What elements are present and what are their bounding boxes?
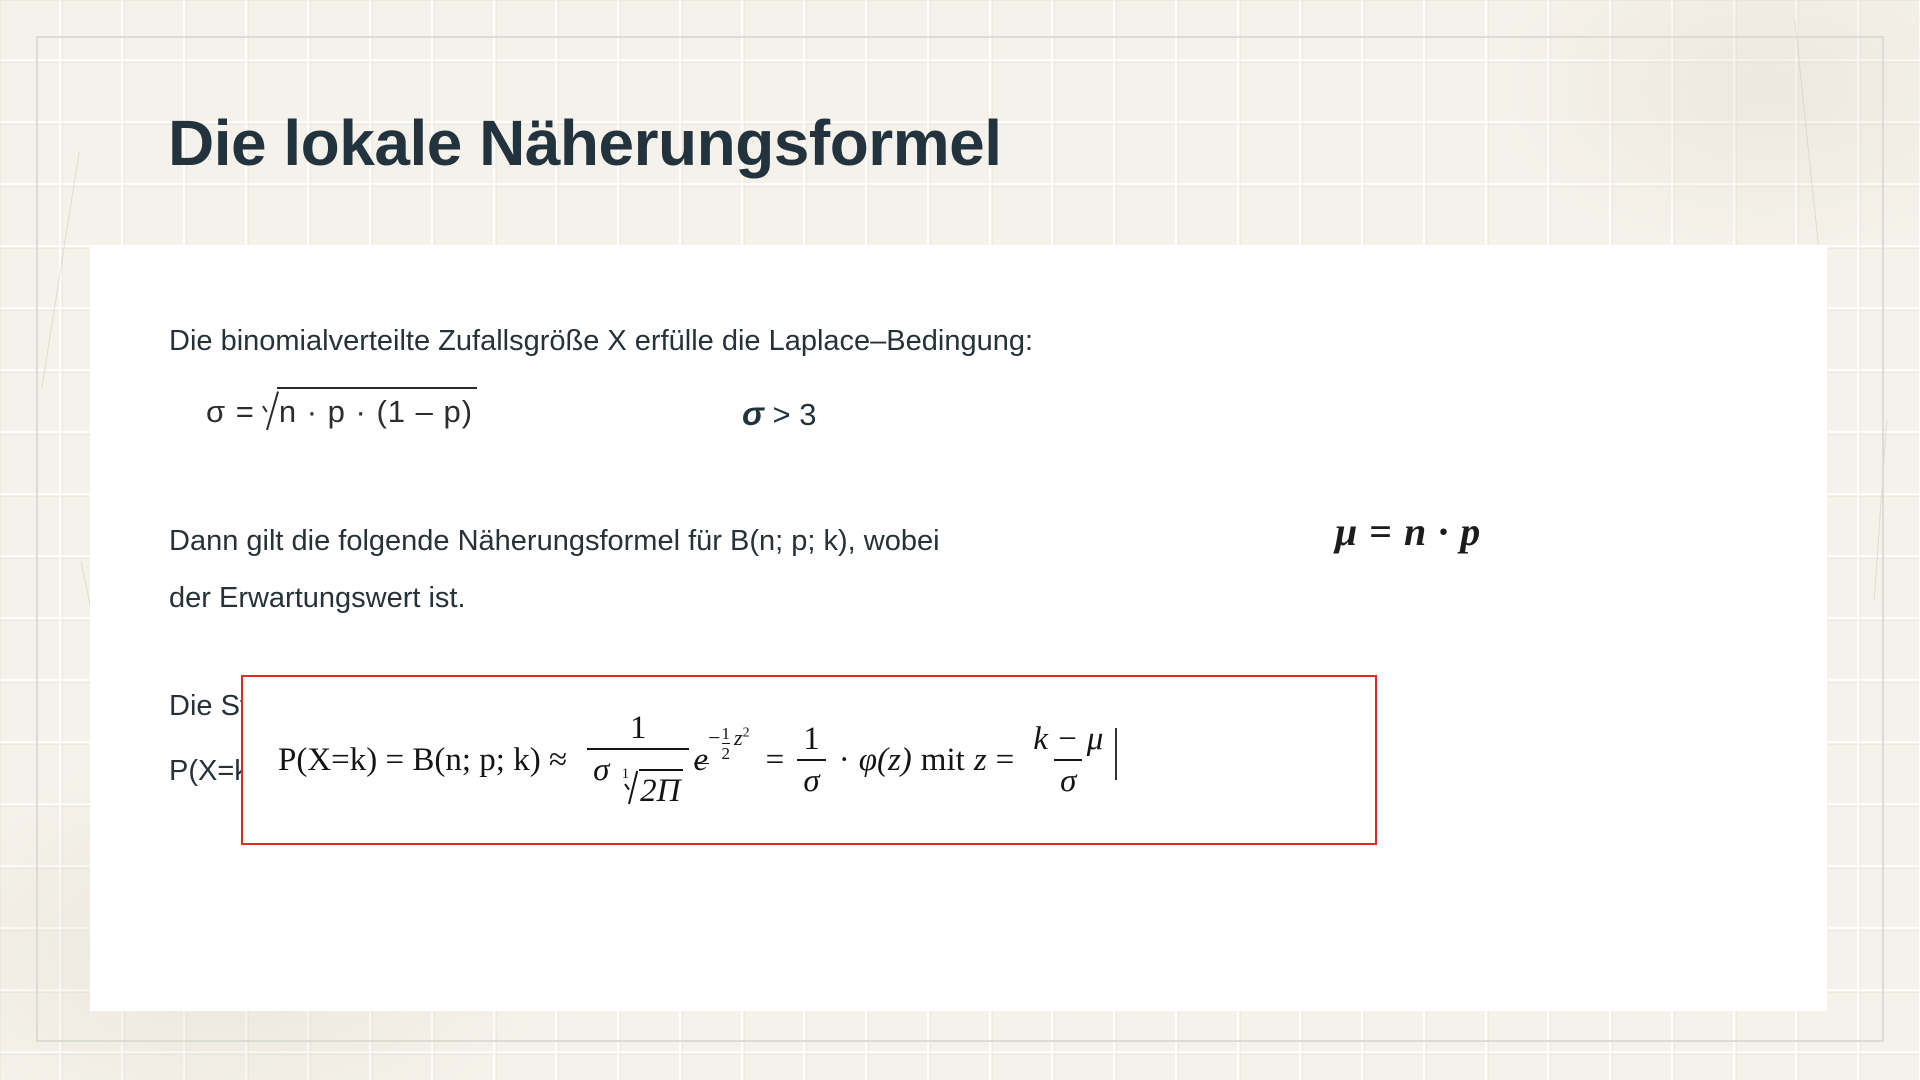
fraction3-denominator: σ <box>1054 759 1082 799</box>
sigma-symbol: σ <box>742 395 764 432</box>
z-variable: z <box>974 742 987 779</box>
local-approximation-formula: P(X=k) = B(n; p; k) ≈ 1 σ 1 2Π e <box>278 677 1117 843</box>
fraction2-denominator: σ <box>797 759 825 799</box>
mu-equals: = <box>1358 509 1404 554</box>
fraction1-numerator: 1 <box>624 711 653 748</box>
exponent-fraction-denominator: 2 <box>722 743 731 763</box>
intro-paragraph: Die binomialverteilte Zufallsgröße X erf… <box>169 320 1033 364</box>
denominator-sigma: σ <box>593 752 609 788</box>
paper-crease <box>41 151 80 388</box>
mu-rhs: n · p <box>1404 509 1481 554</box>
radical-tick <box>625 769 639 803</box>
square-root-icon: 1 2Π <box>618 769 684 809</box>
fraction-k-minus-mu-over-sigma: k − μ σ <box>1027 722 1109 798</box>
mu-expectation-formula: μ = n · p <box>1335 508 1481 555</box>
exponent-group: − 1 2 z2 <box>708 725 749 763</box>
text-cursor-bar <box>1115 728 1117 780</box>
sigma-formula-radicand: n · p · (1 – p) <box>277 387 477 430</box>
formula-lead: P(X=k) = B(n; p; k) ≈ <box>278 742 567 779</box>
page-title: Die lokale Näherungsformel <box>168 106 1001 180</box>
euler-number-base: e <box>693 742 708 779</box>
sigma-definition-formula: σ = n · p · (1 – p) <box>206 387 477 430</box>
mu-symbol: μ <box>1335 509 1358 554</box>
fraction3-numerator: k − μ <box>1027 722 1109 759</box>
exponent-fraction-numerator: 1 <box>722 725 731 743</box>
fraction2-numerator: 1 <box>797 722 826 759</box>
exponent-fraction: 1 2 <box>722 725 731 763</box>
exponent-sign: − <box>708 725 720 751</box>
sigma-relation: > 3 <box>764 397 817 432</box>
slide-canvas: Die lokale Näherungsformel Die binomialv… <box>0 0 1920 1080</box>
phi-term: φ(z) <box>859 742 912 779</box>
fraction1-denominator: σ 1 2Π <box>587 748 689 809</box>
formula-equals-2: = <box>996 742 1015 779</box>
paper-crease <box>1874 420 1888 600</box>
mit-label: mit <box>921 742 965 779</box>
square-root-icon: n · p · (1 – p) <box>261 387 477 430</box>
exponent-z-letter: z <box>734 725 743 750</box>
paragraph-dann-line1: Dann gilt die folgende Näherungsformel f… <box>169 520 940 564</box>
multiplication-dot: · <box>839 742 850 779</box>
paragraph-dann-line2: der Erwartungswert ist. <box>169 577 466 621</box>
highlighted-formula-box: P(X=k) = B(n; p; k) ≈ 1 σ 1 2Π e <box>241 675 1377 845</box>
radical-tick <box>261 389 277 429</box>
exponent-variable-z: z2 <box>734 725 750 751</box>
root-radicand: 2Π <box>639 769 683 809</box>
formula-equals-1: = <box>766 742 785 779</box>
sigma-formula-lhs: σ = <box>206 387 255 430</box>
sigma-condition: σ > 3 <box>742 395 816 433</box>
content-card: Die binomialverteilte Zufallsgröße X erf… <box>90 245 1827 1011</box>
exponent-z-power: 2 <box>743 726 750 741</box>
fraction-one-over-sigma: 1 σ <box>797 722 826 798</box>
fraction-one-over-sigma-root: 1 σ 1 2Π <box>587 711 689 808</box>
